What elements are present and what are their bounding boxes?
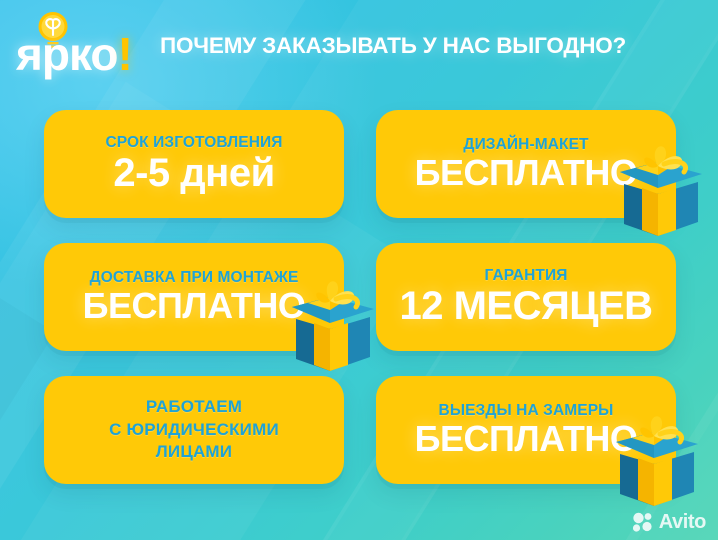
page-title: ПОЧЕМУ ЗАКАЗЫВАТЬ У НАС ВЫГОДНО?: [160, 33, 626, 59]
card-line-2: С ЮРИДИЧЕСКИМИ: [109, 419, 279, 441]
card-value: БЕСПЛАТНО: [415, 421, 638, 458]
card-delivery-on-install[interactable]: ДОСТАВКА ПРИ МОНТАЖЕ БЕСПЛАТНО: [44, 243, 344, 351]
avito-watermark: Avito: [632, 512, 706, 532]
brand-logo[interactable]: ярко!: [16, 11, 152, 81]
card-line-3: ЛИЦАМИ: [156, 441, 232, 463]
banner-header: ярко! ПОЧЕМУ ЗАКАЗЫВАТЬ У НАС ВЫГОДНО?: [0, 0, 718, 92]
brand-logo-text: ярко!: [16, 31, 132, 77]
card-value: 12 МЕСЯЦЕВ: [399, 286, 652, 327]
benefits-grid: СРОК ИЗГОТОВЛЕНИЯ 2-5 дней ДИЗАЙН-МАКЕТ …: [44, 110, 676, 484]
avito-label: Avito: [659, 512, 706, 532]
card-measurement-visits[interactable]: ВЫЕЗДЫ НА ЗАМЕРЫ БЕСПЛАТНО: [376, 376, 676, 484]
card-value: БЕСПЛАТНО: [83, 288, 306, 325]
avito-dots-icon: [632, 512, 654, 532]
card-legal-entities[interactable]: РАБОТАЕМ С ЮРИДИЧЕСКИМИ ЛИЦАМИ: [44, 376, 344, 484]
card-label: ГАРАНТИЯ: [485, 267, 568, 285]
brand-logo-exclaim: !: [117, 28, 131, 80]
brand-logo-word: ярко: [16, 28, 117, 80]
promo-banner: ярко! ПОЧЕМУ ЗАКАЗЫВАТЬ У НАС ВЫГОДНО? С…: [0, 0, 718, 540]
card-production-time[interactable]: СРОК ИЗГОТОВЛЕНИЯ 2-5 дней: [44, 110, 344, 218]
card-design-layout[interactable]: ДИЗАЙН-МАКЕТ БЕСПЛАТНО: [376, 110, 676, 218]
card-label: СРОК ИЗГОТОВЛЕНИЯ: [106, 134, 283, 152]
card-value: БЕСПЛАТНО: [415, 155, 638, 192]
card-line-1: РАБОТАЕМ: [146, 396, 242, 418]
card-warranty[interactable]: ГАРАНТИЯ 12 МЕСЯЦЕВ: [376, 243, 676, 351]
card-value: 2-5 дней: [113, 153, 274, 194]
